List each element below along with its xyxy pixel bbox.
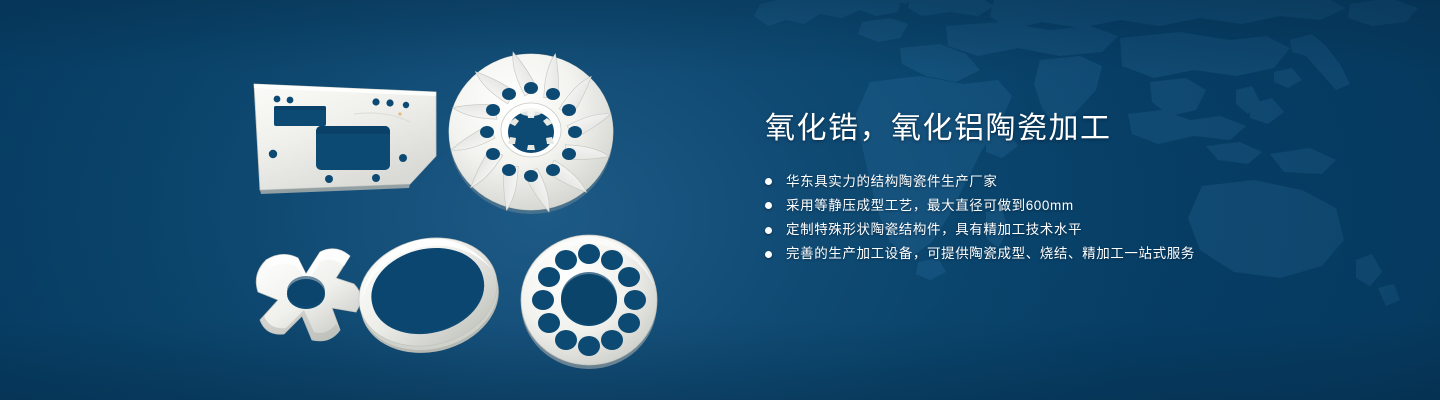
ceramic-plate (250, 78, 440, 198)
ceramic-thin-ring (352, 226, 504, 362)
product-photo-group (0, 0, 760, 400)
feature-list: 华东具实力的结构陶瓷件生产厂家 采用等静压成型工艺，最大直径可做到600mm 定… (765, 174, 1405, 263)
list-item: 定制特殊形状陶瓷结构件，具有精加工技术水平 (765, 222, 1405, 238)
list-item: 采用等静压成型工艺，最大直径可做到600mm (765, 198, 1405, 214)
list-item-label: 完善的生产加工设备，可提供陶瓷成型、烧结、精加工一站式服务 (786, 246, 1195, 262)
bullet-icon (765, 178, 772, 185)
list-item-label: 定制特殊形状陶瓷结构件，具有精加工技术水平 (786, 222, 1082, 238)
page-title: 氧化锆，氧化铝陶瓷加工 (765, 112, 1405, 146)
ceramic-impeller (443, 48, 619, 220)
bullet-icon (765, 227, 772, 234)
ceramic-hole-ring (515, 226, 663, 374)
list-item: 华东具实力的结构陶瓷件生产厂家 (765, 174, 1405, 190)
hero-banner: 氧化锆，氧化铝陶瓷加工 华东具实力的结构陶瓷件生产厂家 采用等静压成型工艺，最大… (0, 0, 1440, 400)
bullet-icon (765, 251, 772, 258)
list-item-label: 采用等静压成型工艺，最大直径可做到600mm (786, 198, 1074, 214)
bullet-icon (765, 202, 772, 209)
banner-copy: 氧化锆，氧化铝陶瓷加工 华东具实力的结构陶瓷件生产厂家 采用等静压成型工艺，最大… (765, 112, 1405, 262)
list-item: 完善的生产加工设备，可提供陶瓷成型、烧结、精加工一站式服务 (765, 246, 1405, 262)
list-item-label: 华东具实力的结构陶瓷件生产厂家 (786, 174, 998, 190)
